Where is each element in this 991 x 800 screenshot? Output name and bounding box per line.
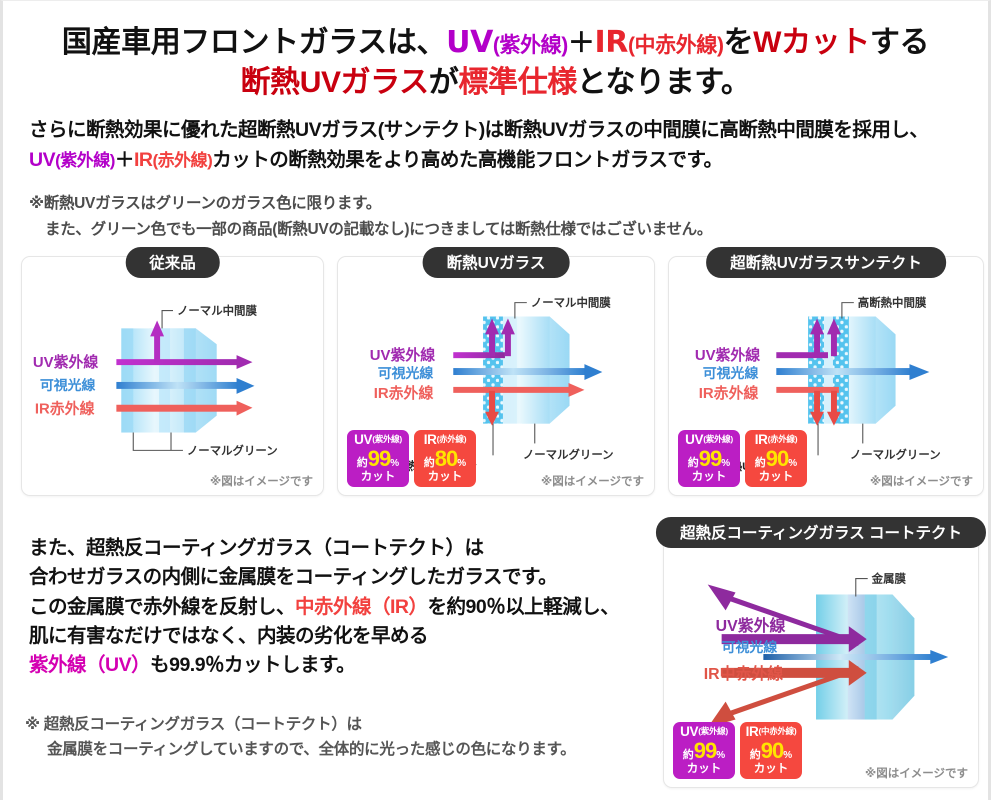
- badge-ir-2-top: IR(赤外線): [414, 433, 476, 447]
- badge-uv-2-cut: カット: [347, 472, 409, 484]
- paraline2-run-5: カットの断熱効果をより高めた高機能フロントガラスです。: [212, 149, 722, 171]
- paraline2-run-2: ＋: [115, 149, 134, 171]
- badge-ir-2-value: 約80%: [414, 448, 476, 470]
- intro-note-line-2: また、グリーン色でも一部の商品(断熱UVの記載なし)につきましては断熱仕様ではご…: [29, 217, 962, 242]
- callout-metal-film-label: 金属膜: [871, 572, 907, 586]
- page-root: 国産車用フロントガラスは、UV(紫外線)＋IR(中赤外線)をWカットする 断熱U…: [0, 0, 991, 800]
- image-note-1: ※図はイメージです: [210, 473, 313, 489]
- comparison-panel-row: 従来品: [21, 256, 970, 496]
- panel-coat-tect: 超熱反コーティングガラス コートテクト: [663, 526, 979, 788]
- uv-highlight: 紫外線（UV）: [29, 654, 150, 676]
- coat-tect-note: ※ 超熱反コーティングガラス（コートテクト）は 金属膜をコーティングしていますの…: [25, 713, 665, 763]
- badge-ir-3-cut: カット: [745, 472, 807, 484]
- hl1-run-7: Wカット: [753, 26, 870, 59]
- hl1-run-5: (中赤外線): [628, 34, 724, 57]
- hl1-run-8: する: [870, 26, 929, 59]
- legend-ir-1: IR赤外線: [35, 400, 95, 418]
- legend-uv-4: UV紫外線: [716, 616, 786, 635]
- badge-uv-4-top: UV(紫外線): [673, 725, 735, 739]
- hl2-run-3: となります。: [577, 66, 751, 99]
- coat-tect-note-line-1: ※ 超熱反コーティングガラス（コートテクト）は: [25, 716, 362, 733]
- legend-ir-2: IR赤外線: [374, 384, 434, 402]
- coat-tect-desc-line-4: 肌に有害なだけではなく、内装の劣化を早める: [29, 622, 659, 651]
- hl2-run-2: 標準仕様: [458, 66, 576, 99]
- coat-tect-desc-line-5: 紫外線（UV）も99.9％カットします。: [29, 651, 659, 680]
- badge-ir-4: IR(中赤外線) 約90% カット: [740, 722, 802, 779]
- badge-uv-2-top: UV(紫外線): [347, 433, 409, 447]
- hl1-run-0: 国産車用フロントガラスは、: [62, 26, 446, 59]
- panel-conventional: 従来品: [21, 256, 324, 496]
- image-note-4: ※図はイメージです: [865, 765, 968, 781]
- legend-ir-3: IR赤外線: [699, 384, 759, 402]
- legend-uv-3: UV紫外線: [695, 346, 760, 364]
- badges-coat-tect: UV(紫外線) 約99% カット IR(中赤外線) 約90% カット: [673, 722, 802, 779]
- badge-uv-3-cut: カット: [678, 472, 740, 484]
- coat-tect-desc-line-3: この金属膜で赤外線を反射し、中赤外線（IR）を約90％以上軽減し、: [29, 593, 659, 622]
- badge-ir-4-top: IR(中赤外線): [740, 725, 802, 739]
- badge-ir-4-cut: カット: [740, 764, 802, 776]
- badge-ir-3: IR(赤外線) 約90% カット: [745, 430, 807, 487]
- coat-tect-desc-line-1: また、超熱反コーティングガラス（コートテクト）は: [29, 534, 659, 563]
- legend-uv-2: UV紫外線: [370, 346, 435, 364]
- badge-uv-3-value: 約99%: [678, 448, 740, 470]
- image-note-2: ※図はイメージです: [541, 473, 644, 489]
- badge-uv-4-value: 約99%: [673, 740, 735, 762]
- callout-top-label-3: 高断熱中間膜: [858, 296, 927, 310]
- coat-tect-note-line-2: 金属膜をコーティングしていますので、全体的に光った感じの色になります。: [25, 738, 665, 763]
- badge-uv-4-cut: カット: [673, 764, 735, 776]
- legend-visible-2: 可視光線: [378, 365, 434, 381]
- badge-ir-2-cut: カット: [414, 472, 476, 484]
- page-title: 国産車用フロントガラスは、UV(紫外線)＋IR(中赤外線)をWカットする 断熱U…: [3, 1, 988, 102]
- headline-line-1: 国産車用フロントガラスは、UV(紫外線)＋IR(中赤外線)をWカットする: [3, 23, 988, 63]
- diagram-conventional: ノーマル中間膜 ノーマルグリーン: [22, 257, 323, 495]
- paraline2-run-4: (赤外線): [152, 151, 212, 170]
- legend-uv-1: UV紫外線: [33, 353, 98, 371]
- legend-visible-3: 可視光線: [703, 365, 759, 381]
- badge-uv-4: UV(紫外線) 約99% カット: [673, 722, 735, 779]
- intro-paragraph: さらに断熱効果に優れた超断熱UVガラス(サンテクト)は断熱UVガラスの中間膜に高…: [29, 116, 962, 175]
- badge-uv-2: UV(紫外線) 約99% カット: [347, 430, 409, 487]
- hl1-run-4: IR: [595, 25, 628, 60]
- paraline2-run-1: (紫外線): [55, 151, 115, 170]
- badges-suntect: UV(紫外線) 約99% カット IR(赤外線) 約90% カット: [678, 430, 807, 487]
- intro-paragraph-line-2: UV(紫外線)＋IR(赤外線)カットの断熱効果をより高めた高機能フロントガラスで…: [29, 146, 962, 176]
- intro-note-line-1: ※断熱UVガラスはグリーンのガラス色に限ります。: [29, 195, 381, 212]
- badge-uv-3: UV(紫外線) 約99% カット: [678, 430, 740, 487]
- panel-dannetsu-uv: 断熱UVガラス: [337, 256, 655, 496]
- callout-bottom-label-1: ノーマルグリーン: [187, 443, 278, 457]
- headline-line-2: 断熱UVガラスが標準仕様となります。: [3, 63, 988, 103]
- callout-top-label-2: ノーマル中間膜: [531, 296, 612, 310]
- callout-bottom-label-3: ノーマルグリーン: [850, 447, 941, 461]
- hl1-run-1: UV: [446, 25, 493, 60]
- hl2-run-1: が: [429, 66, 459, 99]
- badge-ir-2: IR(赤外線) 約80% カット: [414, 430, 476, 487]
- paraline2-run-3: IR: [134, 149, 153, 171]
- coat-tect-desc-line-2: 合わせガラスの内側に金属膜をコーティングしたガラスです。: [29, 563, 659, 592]
- badge-uv-3-top: UV(紫外線): [678, 433, 740, 447]
- hl1-run-2: (紫外線): [493, 34, 568, 57]
- legend-visible-1: 可視光線: [40, 377, 96, 393]
- badge-ir-3-top: IR(赤外線): [745, 433, 807, 447]
- legend-visible-4: 可視光線: [722, 639, 778, 655]
- hl1-run-3: ＋: [568, 28, 595, 58]
- image-note-3: ※図はイメージです: [870, 473, 973, 489]
- badge-uv-2-value: 約99%: [347, 448, 409, 470]
- callout-top-label-1: ノーマル中間膜: [177, 304, 258, 318]
- badges-dannetsu-uv: UV(紫外線) 約99% カット IR(赤外線) 約80% カット: [347, 430, 476, 487]
- panel-suntect: 超断熱UVガラスサンテクト: [668, 256, 984, 496]
- hl2-run-0: 断熱UVガラス: [241, 66, 429, 99]
- hl1-run-6: を: [724, 26, 754, 59]
- legend-ir-4: IR中赤外線: [704, 664, 784, 683]
- paraline2-run-0: UV: [29, 149, 55, 171]
- coat-tect-description: また、超熱反コーティングガラス（コートテクト）は 合わせガラスの内側に金属膜をコ…: [29, 534, 659, 680]
- intro-note: ※断熱UVガラスはグリーンのガラス色に限ります。 また、グリーン色でも一部の商品…: [29, 191, 962, 241]
- badge-ir-3-value: 約90%: [745, 448, 807, 470]
- ir-highlight: 中赤外線（IR）: [295, 596, 428, 618]
- callout-bottom-label-2: ノーマルグリーン: [523, 447, 614, 461]
- badge-ir-4-value: 約90%: [740, 740, 802, 762]
- intro-paragraph-line-1: さらに断熱効果に優れた超断熱UVガラス(サンテクト)は断熱UVガラスの中間膜に高…: [29, 116, 962, 146]
